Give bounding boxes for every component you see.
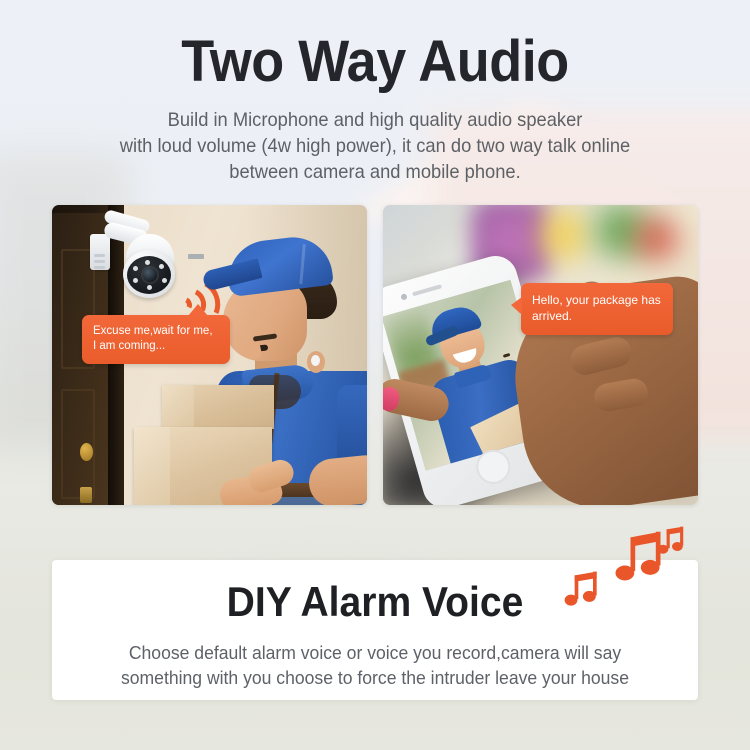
right-bubble-line-1: Hello, your package has [532, 292, 662, 308]
header-section: Two Way Audio Build in Microphone and hi… [0, 0, 750, 185]
music-note-icon [560, 568, 604, 612]
camera-led [133, 266, 138, 271]
right-speech-bubble: Hello, your package has arrived. [521, 283, 673, 335]
courier-nose [242, 341, 263, 360]
camera-wall-bracket [90, 234, 110, 270]
ptz-camera-icon [90, 220, 176, 310]
left-bubble-line-2: I am coming... [93, 339, 219, 354]
diy-subtitle-line-1: Choose default alarm voice or voice you … [68, 640, 682, 665]
package-box-small [162, 385, 274, 429]
left-speech-bubble: Excuse me,wait for me, I am coming... [82, 315, 230, 364]
speech-bubble-tail [511, 297, 522, 315]
courier-earbud [311, 355, 320, 366]
subtitle-line-2: with loud volume (4w high power), it can… [23, 133, 728, 159]
camera-lens [143, 268, 157, 282]
phone-earpiece [412, 284, 442, 296]
subtitle-line-3: between camera and mobile phone. [23, 159, 728, 185]
courier-eyebrow [253, 333, 277, 341]
speech-bubble-tail [188, 304, 208, 316]
bracket-slots [94, 254, 105, 276]
page-title: Two Way Audio [26, 28, 724, 95]
background-bokeh [621, 209, 691, 269]
diy-subtitle: Choose default alarm voice or voice you … [68, 640, 682, 690]
door-hinge [80, 487, 92, 503]
camera-led [133, 278, 138, 283]
subtitle-line-1: Build in Microphone and high quality aud… [23, 107, 728, 133]
left-photo-panel: Excuse me,wait for me, I am coming... [52, 205, 367, 505]
door-knob [80, 443, 93, 461]
camera-led [162, 278, 167, 283]
music-notes-decoration [560, 524, 700, 604]
diy-subtitle-line-2: something with you choose to force the i… [68, 665, 682, 690]
music-note-icon [654, 524, 690, 560]
cap-seam [299, 244, 305, 284]
phone-front-camera-icon [400, 293, 407, 300]
right-photo-panel: Hello, your package has arrived. [383, 205, 698, 505]
camera-led [159, 264, 164, 269]
left-bubble-line-1: Excuse me,wait for me, [93, 324, 219, 339]
camera-led [145, 260, 150, 265]
right-bubble-line-2: arrived. [532, 308, 662, 324]
page-subtitle: Build in Microphone and high quality aud… [23, 107, 728, 185]
photo-panel-row: Excuse me,wait for me, I am coming... [52, 205, 698, 505]
camera-led [147, 285, 152, 290]
